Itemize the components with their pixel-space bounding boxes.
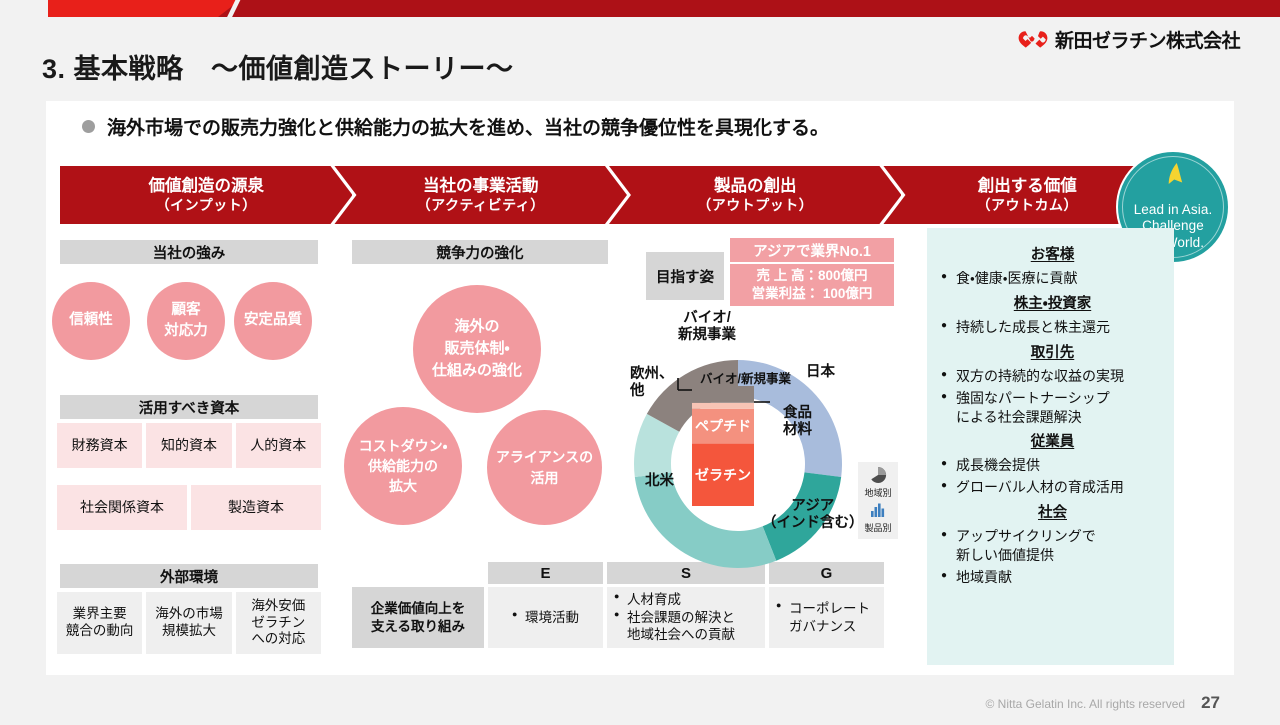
banner-step-subtitle: （アクティビティ）: [417, 197, 545, 214]
competitiveness-circle-cost-down: コストダウン・供給能力の拡大: [344, 407, 462, 525]
slide-root: 新田ゼラチン株式会社 3. 基本戦略 〜価値創造ストーリー〜 海外市場での販売力…: [0, 0, 1280, 725]
badge-line-1: Lead in Asia.: [1134, 202, 1213, 218]
esg-column-header-e: E: [488, 562, 603, 584]
top-bar-dark-segment: [218, 0, 1280, 17]
donut-label-asia: アジア（インド含む）: [762, 498, 864, 533]
bar-segment-label: ゼラチン: [695, 467, 751, 483]
top-accent-bar: [48, 0, 1280, 17]
strength-circle: 信頼性: [52, 282, 130, 360]
bar-segment-label: ペプチド: [695, 418, 751, 434]
esg-row-label: 企業価値向上を支える取り組み: [352, 587, 484, 648]
esg-list-item: 社会課題の解決と地域社会への貢献: [614, 609, 735, 644]
lead-statement-text: 海外市場での販売力強化と供給能力の拡大を進め、当社の競争優位性を具現化する。: [107, 113, 829, 140]
lead-statement: 海外市場での販売力強化と供給能力の拡大を進め、当社の競争優位性を具現化する。: [82, 113, 829, 140]
aim-targets: 売 上 高：800億円 営業利益： 100億円: [730, 264, 894, 306]
capital-cell: 知的資本: [146, 423, 231, 468]
environment-section-header: 外部環境: [60, 564, 318, 588]
outcome-item: 地域貢献: [941, 568, 1164, 587]
capital-cell: 製造資本: [191, 485, 321, 530]
banner-step-subtitle: （アウトプット）: [697, 197, 813, 214]
bar-chart-icon: [869, 501, 887, 519]
outcome-item: 成長機会提供: [941, 456, 1164, 475]
esg-cell-s: 人材育成 社会課題の解決と地域社会への貢献: [607, 587, 765, 648]
outcome-panel: お客様 食・健康・医療に貢献 株主・投資家 持続した成長と株主還元 取引先 双方…: [927, 228, 1174, 665]
strength-circle: 安定品質: [234, 282, 312, 360]
legend-label-product: 製品別: [864, 521, 891, 534]
outcome-group-header: 取引先: [941, 341, 1164, 362]
capital-cell: 社会関係資本: [57, 485, 187, 530]
capital-cell: 財務資本: [57, 423, 142, 468]
strength-section-header: 当社の強み: [60, 240, 318, 264]
outcome-group-header: 従業員: [941, 430, 1164, 451]
copyright-text: © Nitta Gelatin Inc. All rights reserved: [985, 697, 1185, 711]
bar-label-food-material: 食品材料: [783, 405, 812, 440]
banner-step-title: 価値創造の源泉: [148, 176, 264, 196]
strength-circle-group: 信頼性 顧客対応力 安定品質: [52, 282, 328, 360]
outcome-group-header: 株主・投資家: [941, 292, 1164, 313]
outcome-item: グローバル人材の育成活用: [941, 478, 1164, 497]
outcome-group-header: 社会: [941, 501, 1164, 522]
aim-label: 目指す姿: [646, 252, 724, 300]
donut-label-europe-other: 欧州、他: [630, 366, 674, 401]
company-logo: 新田ゼラチン株式会社: [1018, 26, 1240, 53]
banner-step-subtitle: （インプット）: [148, 197, 264, 214]
competitiveness-circle-alliance: アライアンスの活用: [487, 410, 602, 525]
esg-cell-e: 環境活動: [488, 587, 603, 648]
capital-section-header: 活用すべき資本: [60, 395, 318, 419]
banner-step-output: 製品の創出 （アウトプット）: [609, 166, 901, 224]
esg-list-item: 環境活動: [512, 609, 579, 627]
esg-list-item: コーポレートガバナンス: [776, 600, 870, 635]
bullet-dot-icon: [82, 120, 95, 133]
outcome-item: 強固なパートナーシップによる社会課題解決: [941, 389, 1164, 427]
aim-sales-target: 売 上 高：800億円: [756, 267, 867, 285]
nitta-heart-mark-icon: [1018, 30, 1048, 49]
bar-segment: [692, 403, 754, 409]
bar-label-bio-new-business: バイオ/新規事業: [700, 372, 791, 387]
banner-step-title: 当社の事業活動: [417, 176, 545, 196]
competitiveness-section-header: 競争力の強化: [352, 240, 608, 264]
outcome-item: 食・健康・医療に貢献: [941, 269, 1164, 288]
pie-chart-icon: [869, 466, 887, 484]
donut-label-japan: 日本: [806, 364, 835, 381]
page-number: 27: [1201, 693, 1220, 713]
banner-step-activity: 当社の事業活動 （アクティビティ）: [334, 166, 626, 224]
page-title: 3. 基本戦略 〜価値創造ストーリー〜: [42, 47, 514, 86]
donut-label-north-america: 北米: [645, 473, 674, 490]
capital-cell: 人的資本: [236, 423, 321, 468]
chart-legend: 地域別 製品別: [858, 462, 898, 539]
bar-segment: [692, 386, 754, 403]
strength-circle: 顧客対応力: [147, 282, 225, 360]
outcome-item: 持続した成長と株主還元: [941, 318, 1164, 337]
esg-list-item: 人材育成: [614, 591, 735, 609]
outcome-group-header: お客様: [941, 243, 1164, 264]
esg-cell-g: コーポレートガバナンス: [769, 587, 884, 648]
esg-table-body-row: 企業価値向上を支える取り組み 環境活動 人材育成 社会課題の解決と地域社会への貢…: [352, 587, 889, 648]
top-bar-light-segment: [48, 0, 238, 17]
competitiveness-circle-sales-system: 海外の販売体制・仕組みの強化: [413, 285, 541, 413]
aim-headline: アジアで業界No.1: [730, 238, 894, 262]
capital-row-1: 財務資本 知的資本 人的資本: [57, 423, 321, 468]
value-chain-banner: 価値創造の源泉 （インプット） 当社の事業活動 （アクティビティ） 製品の創出 …: [60, 166, 1171, 224]
environment-cell: 海外の市場規模拡大: [146, 592, 231, 654]
banner-step-input: 価値創造の源泉 （インプット）: [60, 166, 352, 224]
esg-header-spacer: [352, 562, 484, 584]
arrow-cursor-icon: [1159, 161, 1189, 191]
environment-cell: 業界主要競合の動向: [57, 592, 142, 654]
donut-label-bio-new-business: バイオ/新規事業: [678, 310, 736, 345]
environment-row: 業界主要競合の動向 海外の市場規模拡大 海外安価ゼラチンへの対応: [57, 592, 321, 654]
legend-label-region: 地域別: [864, 486, 891, 499]
aim-profit-target: 営業利益： 100億円: [752, 285, 873, 303]
banner-step-title: 製品の創出: [697, 176, 813, 196]
slide-footer: © Nitta Gelatin Inc. All rights reserved…: [985, 693, 1220, 713]
outcome-item: アップサイクリングで新しい価値提供: [941, 527, 1164, 565]
capital-row-2: 社会関係資本 製造資本: [57, 485, 321, 530]
esg-table: E S G 企業価値向上を支える取り組み 環境活動 人材育成 社会課題の解決と地…: [352, 562, 889, 648]
logo-text: 新田ゼラチン株式会社: [1055, 26, 1240, 53]
environment-cell: 海外安価ゼラチンへの対応: [236, 592, 321, 654]
outcome-item: 双方の持続的な収益の実現: [941, 367, 1164, 386]
banner-step-subtitle: （アウトカム）: [976, 197, 1078, 214]
banner-step-title: 創出する価値: [976, 176, 1078, 196]
